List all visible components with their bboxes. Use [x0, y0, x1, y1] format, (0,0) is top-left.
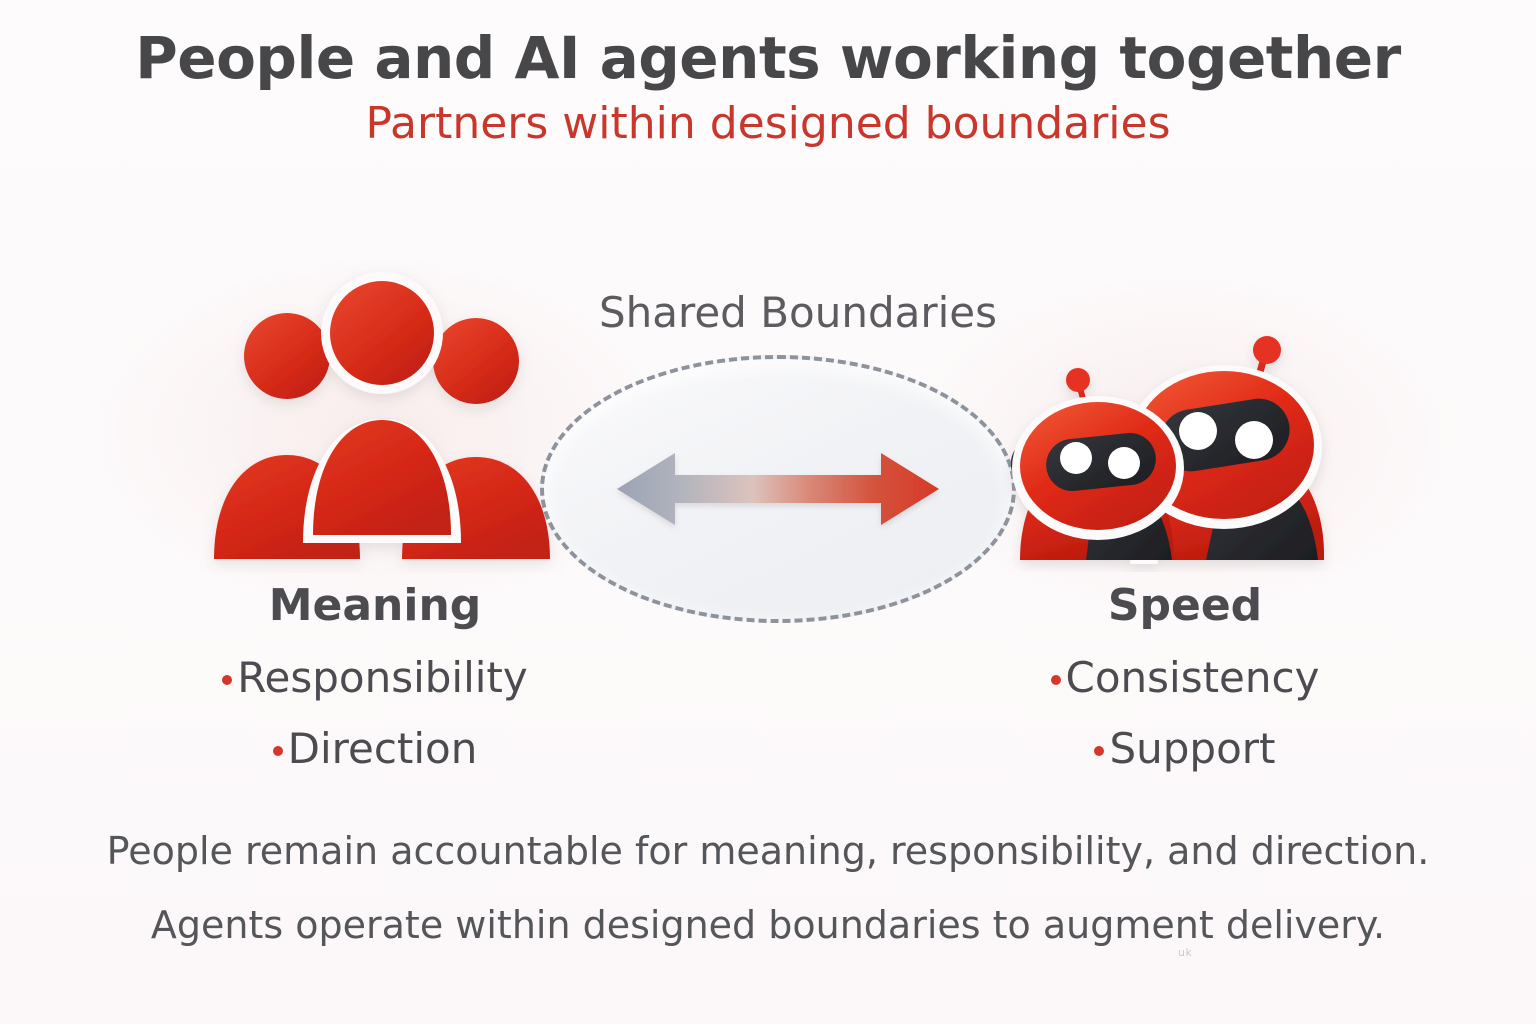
left-heading: Meaning [140, 580, 610, 632]
red-dot-bullet-icon [273, 746, 283, 756]
page-subtitle: Partners within designed boundaries [0, 101, 1536, 147]
red-dot-bullet-icon [1094, 746, 1104, 756]
red-dot-bullet-icon [222, 675, 232, 685]
caption-line-2: Agents operate within designed boundarie… [0, 906, 1536, 944]
double-headed-arrow-icon [613, 443, 943, 535]
right-item-0: Consistency [950, 652, 1420, 703]
red-dot-bullet-icon [1051, 675, 1061, 685]
left-item-0-label: Responsibility [237, 652, 528, 703]
header: People and AI agents working together Pa… [0, 28, 1536, 147]
shared-boundaries-label: Shared Boundaries [508, 288, 1088, 337]
left-item-1: Direction [140, 723, 610, 774]
watermark: uk [1178, 946, 1192, 959]
caption-line-1: People remain accountable for meaning, r… [0, 832, 1536, 870]
right-item-1-label: Support [1109, 723, 1275, 774]
caption-block: People remain accountable for meaning, r… [0, 832, 1536, 944]
person-center [313, 281, 451, 535]
right-item-0-label: Consistency [1066, 652, 1320, 703]
left-item-0: Responsibility [140, 652, 610, 703]
right-attributes: Speed Consistency Support [950, 580, 1420, 774]
infographic-canvas: People and AI agents working together Pa… [0, 0, 1536, 1024]
left-attributes: Meaning Responsibility Direction [140, 580, 610, 774]
shared-boundaries-zone [540, 355, 1016, 623]
left-item-1-label: Direction [288, 723, 478, 774]
right-item-1: Support [950, 723, 1420, 774]
page-title: People and AI agents working together [0, 28, 1536, 89]
right-heading: Speed [950, 580, 1420, 632]
robot-pair-icon [1002, 292, 1352, 572]
